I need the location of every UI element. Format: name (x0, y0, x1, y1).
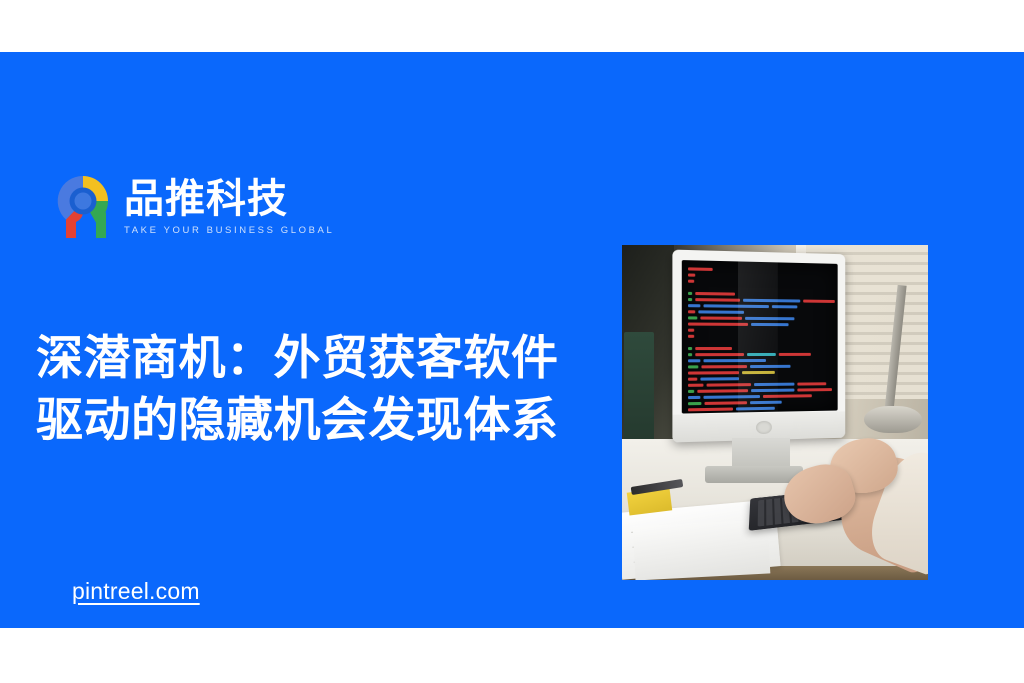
website-url-link[interactable]: pintreel.com (72, 580, 200, 603)
pintreel-logo-mark-icon (52, 170, 114, 242)
code-token (688, 347, 693, 350)
code-token (688, 335, 694, 338)
brand-name: 品推科技 (124, 179, 334, 219)
code-token (696, 353, 744, 356)
photo-scene (622, 245, 928, 580)
code-token (688, 365, 699, 368)
bottom-white-band (0, 628, 1024, 683)
code-token (688, 396, 700, 399)
code-token (688, 371, 739, 374)
monitor-base (705, 466, 803, 483)
brand-tagline: TAKE YOUR BUSINESS GLOBAL (124, 226, 334, 236)
green-cabinet (624, 332, 655, 453)
hero-photo (622, 245, 928, 580)
code-token (688, 310, 696, 313)
code-token (696, 347, 732, 350)
code-token (798, 388, 832, 391)
screen-glare (738, 261, 779, 412)
social-banner-slide: 品推科技 TAKE YOUR BUSINESS GLOBAL 深潜商机：外贸获客… (0, 0, 1024, 683)
code-token (688, 384, 703, 387)
page-title: 深潜商机：外贸获客软件 驱动的隐藏机会发现体系 (36, 328, 606, 452)
code-token (688, 316, 697, 319)
code-token (696, 298, 741, 301)
code-token (688, 298, 693, 301)
blue-canvas: 品推科技 TAKE YOUR BUSINESS GLOBAL 深潜商机：外贸获客… (0, 52, 1024, 628)
code-token (688, 292, 693, 295)
monitor-logo-dot-icon (756, 420, 772, 433)
code-token (688, 274, 696, 277)
code-token (688, 304, 700, 307)
brand-logo[interactable]: 品推科技 TAKE YOUR BUSINESS GLOBAL (52, 170, 334, 242)
code-token (804, 300, 835, 303)
monitor-screen (682, 260, 838, 414)
desktop-computer-monitor (672, 249, 845, 441)
desk-lamp-base (864, 406, 922, 433)
code-token (779, 353, 811, 356)
code-token (696, 292, 735, 295)
code-token (688, 402, 702, 405)
code-token (688, 390, 694, 393)
headline-line-1: 深潜商机：外贸获客软件 (36, 328, 606, 390)
code-token (688, 267, 712, 270)
code-token (688, 353, 693, 356)
code-token (798, 382, 826, 385)
headline-line-2: 驱动的隐藏机会发现体系 (36, 390, 606, 452)
code-token (688, 329, 694, 332)
monitor-stand (732, 438, 790, 468)
code-token (700, 317, 742, 320)
code-token (700, 377, 739, 380)
code-token (688, 359, 700, 362)
code-token (688, 378, 697, 381)
top-white-band (0, 0, 1024, 52)
logo-wordmark: 品推科技 TAKE YOUR BUSINESS GLOBAL (124, 177, 334, 236)
code-token (688, 408, 733, 411)
code-token (688, 280, 694, 283)
